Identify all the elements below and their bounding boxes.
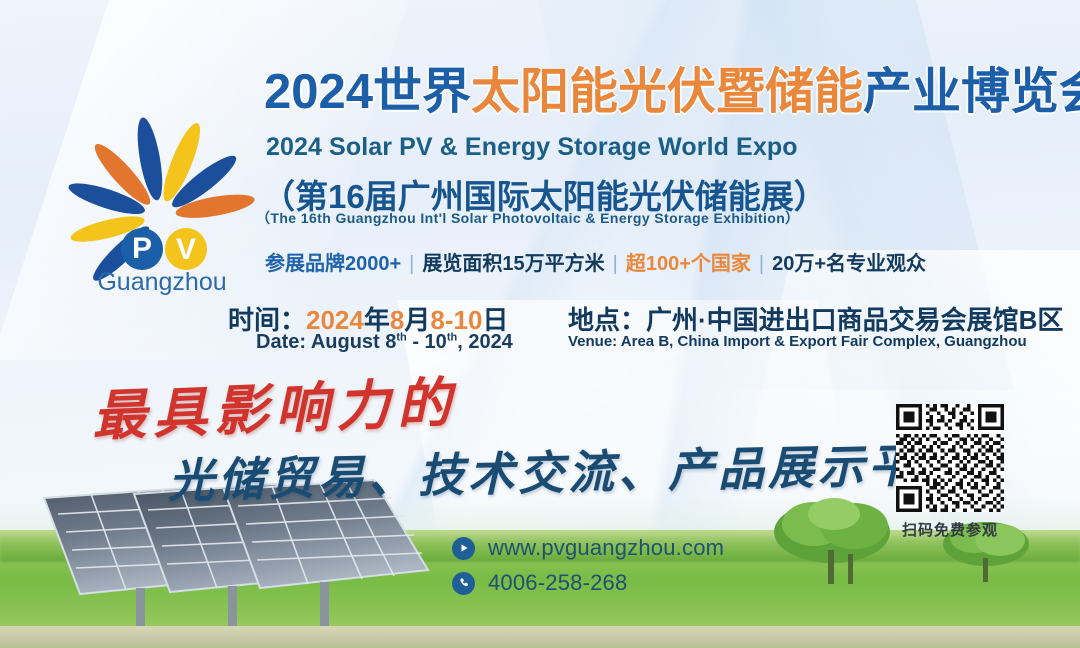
qr-code[interactable] (896, 404, 1004, 512)
event-venue-chinese: 地点：广州·中国进出口商品交易会展馆B区 (568, 300, 1063, 337)
stat-visitors: 20万+名专业观众 (772, 253, 926, 275)
stat-area: 展览面积15万平方米 (422, 253, 604, 275)
date-en-sup-first: th (396, 331, 406, 343)
title-segment-orange: 太阳能光伏暨储能 (471, 65, 863, 119)
stats-strip: 参展品牌2000+|展览面积15万平方米|超100+个国家|20万+名专业观众 (265, 247, 926, 276)
page-title: 2024世界太阳能光伏暨储能产业博览会 (264, 68, 1080, 117)
stat-brands: 参展品牌2000+ (265, 253, 401, 275)
phone-circle-icon (452, 572, 475, 595)
play-circle-icon (452, 537, 475, 560)
expo-banner: P V Guangzhou 2024世界太阳能光伏暨储能产业博览会 2024 S… (0, 0, 1080, 648)
logo-letter-p: P (132, 232, 152, 265)
title-segment-blue-tail: 产业博览会 (863, 65, 1080, 119)
date-en-sup-second: th (447, 331, 457, 343)
qr-block: 扫码免费参观 (896, 404, 1004, 540)
title-english: 2024 Solar PV & Energy Storage World Exp… (266, 133, 798, 162)
stat-separator: | (613, 253, 618, 275)
sunburst-petals (66, 116, 256, 287)
date-en-suffix: , 2024 (457, 331, 513, 353)
website-row[interactable]: www.pvguangzhou.com (452, 535, 724, 561)
slogan-primary: 最具影响力的 (90, 358, 459, 451)
subtitle-english: （The 16th Guangzhou Int'l Solar Photovol… (256, 208, 800, 228)
date-en-prefix: Date: August 8 (256, 331, 396, 353)
contact-block: www.pvguangzhou.com 4006-258-268 (452, 535, 724, 605)
event-date-english: Date: August 8th - 10th, 2024 (256, 331, 513, 354)
logo-letter-v: V (176, 233, 196, 266)
stat-separator: | (759, 253, 764, 275)
date-en-middle: - 10 (407, 331, 447, 353)
website-url: www.pvguangzhou.com (488, 535, 724, 561)
qr-caption: 扫码免费参观 (896, 519, 1004, 540)
logo-wordmark: Guangzhou (97, 268, 226, 296)
tree-icon (770, 494, 900, 586)
phone-number: 4006-258-268 (488, 570, 627, 596)
stat-countries: 超100+个国家 (626, 253, 751, 275)
event-venue-english: Venue: Area B, China Import & Export Fai… (568, 333, 1027, 350)
phone-row[interactable]: 4006-258-268 (452, 570, 724, 596)
pv-guangzhou-logo[interactable]: P V Guangzhou (62, 104, 258, 300)
title-segment-blue-lead: 2024世界 (264, 65, 471, 119)
stat-separator: | (409, 253, 414, 275)
